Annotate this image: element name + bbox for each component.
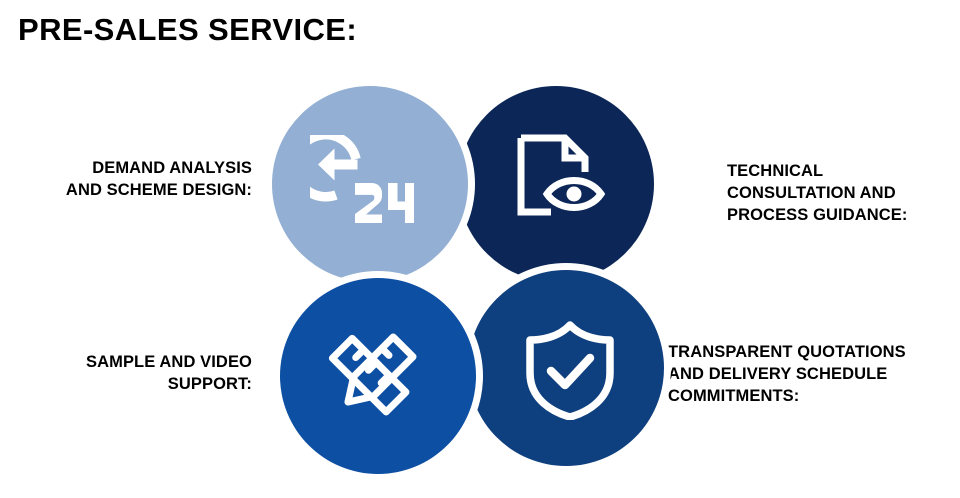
24-hours-rotate-icon — [309, 128, 415, 234]
circle-demand-analysis[interactable] — [272, 86, 468, 282]
label-line: COMMITMENTS: — [668, 387, 799, 405]
circle-transparent-quotations[interactable] — [468, 270, 664, 466]
label-line: SAMPLE AND VIDEO — [86, 353, 252, 371]
label-line: TECHNICAL — [727, 162, 823, 180]
circle-technical-consultation[interactable] — [458, 86, 654, 282]
shield-check-icon — [517, 317, 623, 423]
label-sample-video-support: SAMPLE AND VIDEO SUPPORT: — [0, 352, 252, 396]
label-line: SUPPORT: — [168, 375, 252, 393]
label-technical-consultation: TECHNICAL CONSULTATION AND PROCESS GUIDA… — [727, 161, 957, 227]
label-line: PROCESS GUIDANCE: — [727, 206, 907, 224]
label-line: AND SCHEME DESIGN: — [66, 181, 252, 199]
label-line: AND DELIVERY SCHEDULE — [668, 365, 887, 383]
document-eye-icon — [509, 127, 615, 233]
label-line: DEMAND ANALYSIS — [92, 159, 252, 177]
label-line: CONSULTATION AND — [727, 184, 896, 202]
label-demand-analysis: DEMAND ANALYSIS AND SCHEME DESIGN: — [0, 158, 252, 202]
page-title: PRE-SALES SERVICE: — [18, 12, 357, 48]
pencil-ruler-icon — [319, 325, 425, 431]
label-line: TRANSPARENT QUOTATIONS — [668, 343, 906, 361]
label-transparent-quotations: TRANSPARENT QUOTATIONS AND DELIVERY SCHE… — [668, 342, 960, 408]
circle-sample-video-support[interactable] — [280, 278, 476, 474]
circle-cluster — [272, 86, 668, 482]
infographic-page: PRE-SALES SERVICE: — [0, 0, 960, 498]
